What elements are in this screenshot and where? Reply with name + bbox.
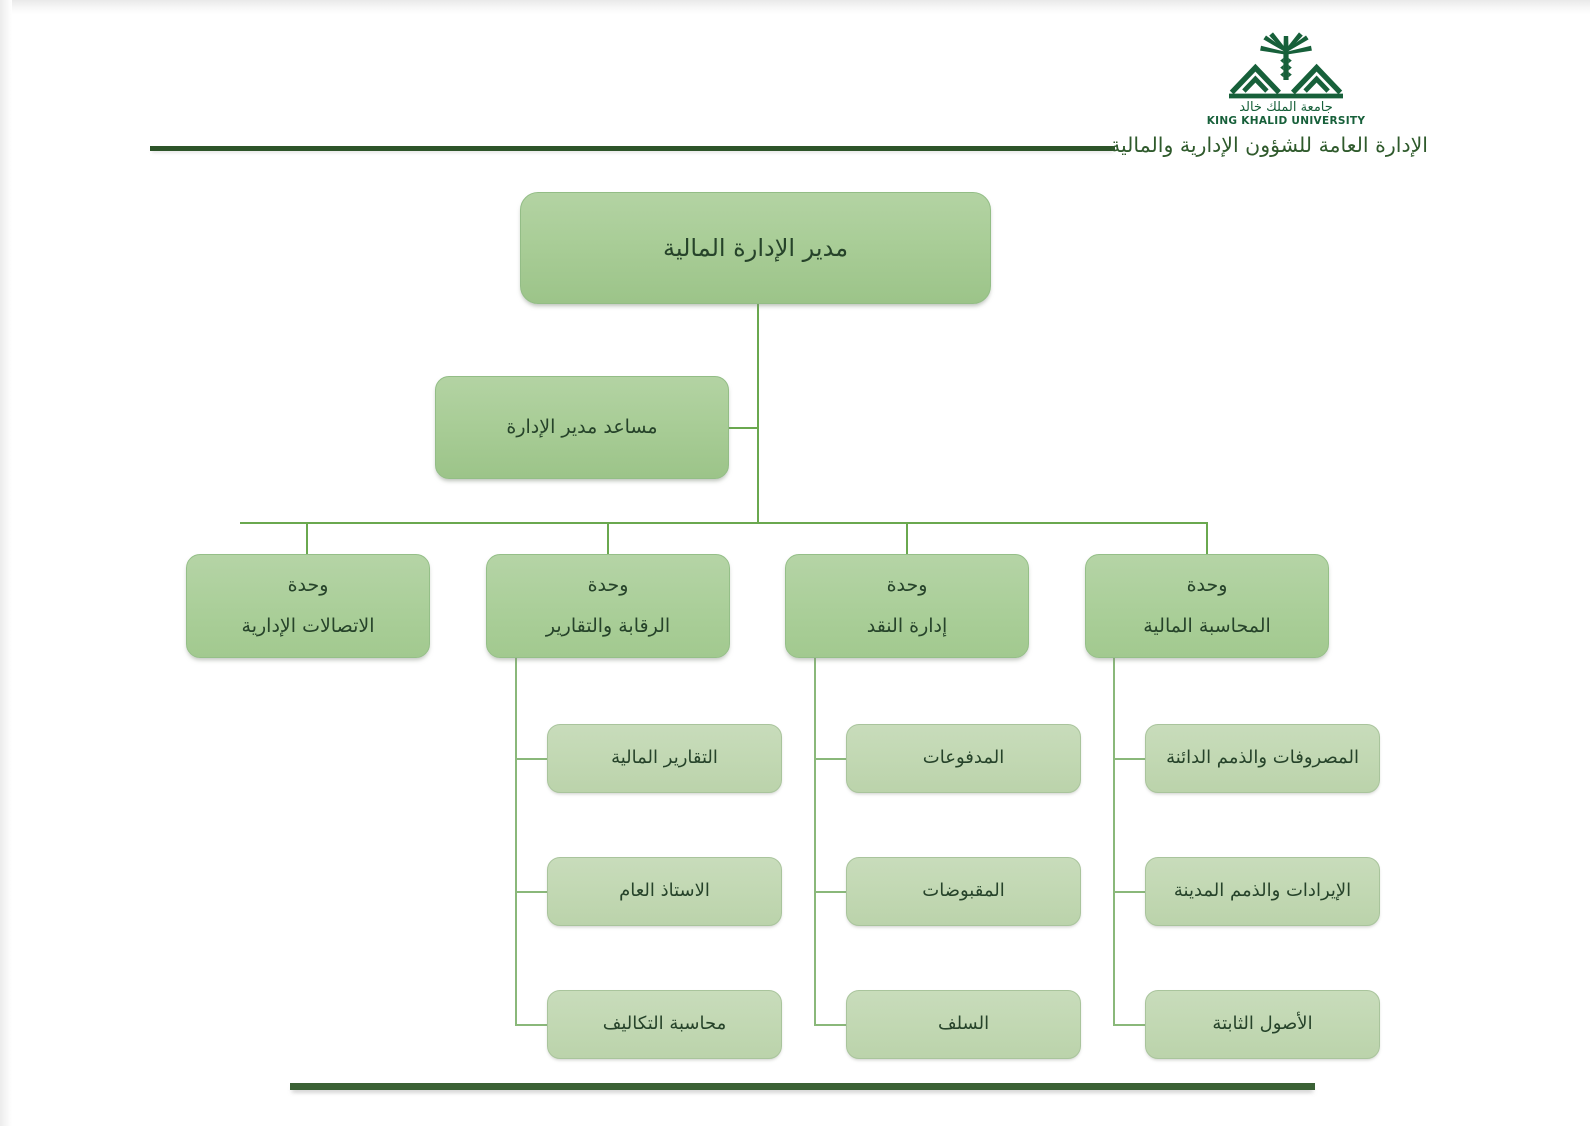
node-leaf-advances[interactable]: السلف: [846, 990, 1081, 1059]
node-label: مساعد مدير الإدارة: [506, 414, 657, 442]
connector-spine-reports: [515, 656, 517, 1026]
node-unit-administrative-communications[interactable]: وحدة الاتصالات الإدارية: [186, 554, 430, 658]
page-canvas: جامعة الملك خالد KING KHALID UNIVERSITY …: [0, 0, 1590, 1126]
node-label: المدفوعات: [923, 745, 1004, 771]
connector-stub-cash-3: [814, 1024, 846, 1026]
node-unit-financial-accounting[interactable]: وحدة المحاسبة المالية: [1085, 554, 1329, 658]
node-label-line1: وحدة: [288, 572, 329, 600]
node-label: المصروفات والذمم الدائنة: [1166, 745, 1359, 771]
node-leaf-financial-reports[interactable]: التقارير المالية: [547, 724, 782, 793]
connector-stub-cash-2: [814, 891, 846, 893]
node-label: الاستاذ العام: [619, 878, 710, 904]
connector-units-bar: [240, 522, 1208, 524]
node-label: الأصول الثابتة: [1212, 1011, 1312, 1037]
node-director-financial-administration[interactable]: مدير الإدارة المالية: [520, 192, 991, 304]
node-leaf-expenses-and-payables[interactable]: المصروفات والذمم الدائنة: [1145, 724, 1380, 793]
connector-spine-cash: [814, 656, 816, 1026]
node-leaf-revenues-and-receivables[interactable]: الإيرادات والذمم المدينة: [1145, 857, 1380, 926]
node-label-line2: إدارة النقد: [867, 613, 948, 641]
node-leaf-cost-accounting[interactable]: محاسبة التكاليف: [547, 990, 782, 1059]
node-label: المقبوضات: [922, 878, 1004, 904]
node-unit-control-and-reports[interactable]: وحدة الرقابة والتقارير: [486, 554, 730, 658]
connector-stub-reports-2: [515, 891, 547, 893]
node-label-line2: المحاسبة المالية: [1143, 613, 1271, 641]
org-chart: مدير الإدارة المالية مساعد مدير الإدارة …: [0, 0, 1590, 1126]
node-label: محاسبة التكاليف: [603, 1011, 727, 1037]
connector-stub-accounting-1: [1113, 758, 1145, 760]
node-leaf-payments[interactable]: المدفوعات: [846, 724, 1081, 793]
node-label-line1: وحدة: [1187, 572, 1228, 600]
node-assistant-director[interactable]: مساعد مدير الإدارة: [435, 376, 729, 479]
node-label: مدير الإدارة المالية: [663, 231, 848, 266]
node-leaf-general-ledger[interactable]: الاستاذ العام: [547, 857, 782, 926]
node-label: الإيرادات والذمم المدينة: [1174, 878, 1351, 904]
connector-drop-unit-1: [306, 522, 308, 555]
connector-root-trunk: [757, 303, 759, 524]
connector-stub-reports-1: [515, 758, 547, 760]
connector-stub-accounting-2: [1113, 891, 1145, 893]
connector-drop-unit-2: [607, 522, 609, 555]
connector-drop-unit-4: [1206, 522, 1208, 555]
node-label-line1: وحدة: [588, 572, 629, 600]
node-unit-cash-management[interactable]: وحدة إدارة النقد: [785, 554, 1029, 658]
connector-stub-accounting-3: [1113, 1024, 1145, 1026]
node-label: السلف: [938, 1011, 989, 1037]
connector-spine-accounting: [1113, 656, 1115, 1026]
connector-stub-reports-3: [515, 1024, 547, 1026]
node-label-line2: الاتصالات الإدارية: [242, 613, 375, 641]
node-label-line2: الرقابة والتقارير: [546, 613, 670, 641]
connector-stub-cash-1: [814, 758, 846, 760]
connector-drop-unit-3: [906, 522, 908, 555]
node-leaf-fixed-assets[interactable]: الأصول الثابتة: [1145, 990, 1380, 1059]
node-label-line1: وحدة: [887, 572, 928, 600]
connector-assistant-stub: [728, 427, 759, 429]
node-label: التقارير المالية: [611, 745, 718, 771]
node-leaf-receipts[interactable]: المقبوضات: [846, 857, 1081, 926]
